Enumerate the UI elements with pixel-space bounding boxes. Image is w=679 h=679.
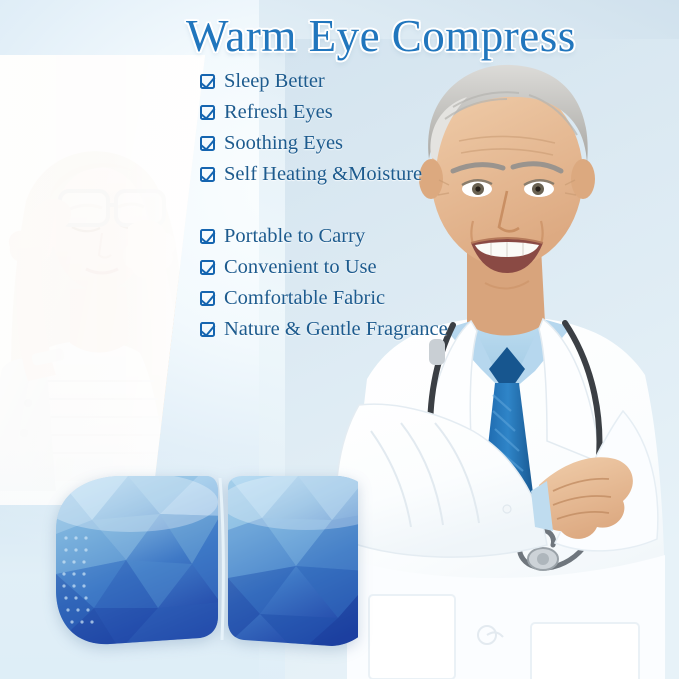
benefit-item: Nature & Gentle Fragrance: [200, 314, 448, 345]
photo-overlay-wash: [0, 55, 205, 505]
checkbox-checked-icon: [200, 229, 215, 244]
benefit-item: Portable to Carry: [200, 221, 448, 252]
benefit-label: Comfortable Fabric: [224, 287, 385, 310]
benefit-item: Refresh Eyes: [200, 97, 422, 128]
product-infographic: Warm Eye Compress Sleep Better Refresh E…: [0, 0, 679, 679]
benefit-item: Comfortable Fabric: [200, 283, 448, 314]
benefit-item: Sleep Better: [200, 66, 422, 97]
checkbox-checked-icon: [200, 167, 215, 182]
product-eye-compress-mask: [48, 468, 358, 658]
benefit-label: Convenient to Use: [224, 256, 377, 279]
checkbox-checked-icon: [200, 260, 215, 275]
checkbox-checked-icon: [200, 322, 215, 337]
checkbox-checked-icon: [200, 105, 215, 120]
benefits-list-primary: Sleep Better Refresh Eyes Soothing Eyes …: [200, 66, 422, 190]
benefit-label: Sleep Better: [224, 70, 325, 93]
page-title: Warm Eye Compress: [186, 8, 666, 64]
benefit-label: Nature & Gentle Fragrance: [224, 318, 448, 341]
benefit-item: Convenient to Use: [200, 252, 448, 283]
benefit-label: Soothing Eyes: [224, 132, 343, 155]
benefit-label: Self Heating &Moisture: [224, 163, 422, 186]
benefit-label: Portable to Carry: [224, 225, 365, 248]
checkbox-checked-icon: [200, 74, 215, 89]
checkbox-checked-icon: [200, 291, 215, 306]
benefits-list-secondary: Portable to Carry Convenient to Use Comf…: [200, 221, 448, 345]
benefit-label: Refresh Eyes: [224, 101, 333, 124]
photo-woman-tired-eyes: [0, 55, 205, 505]
benefit-item: Self Heating &Moisture: [200, 159, 422, 190]
checkbox-checked-icon: [200, 136, 215, 151]
benefit-item: Soothing Eyes: [200, 128, 422, 159]
